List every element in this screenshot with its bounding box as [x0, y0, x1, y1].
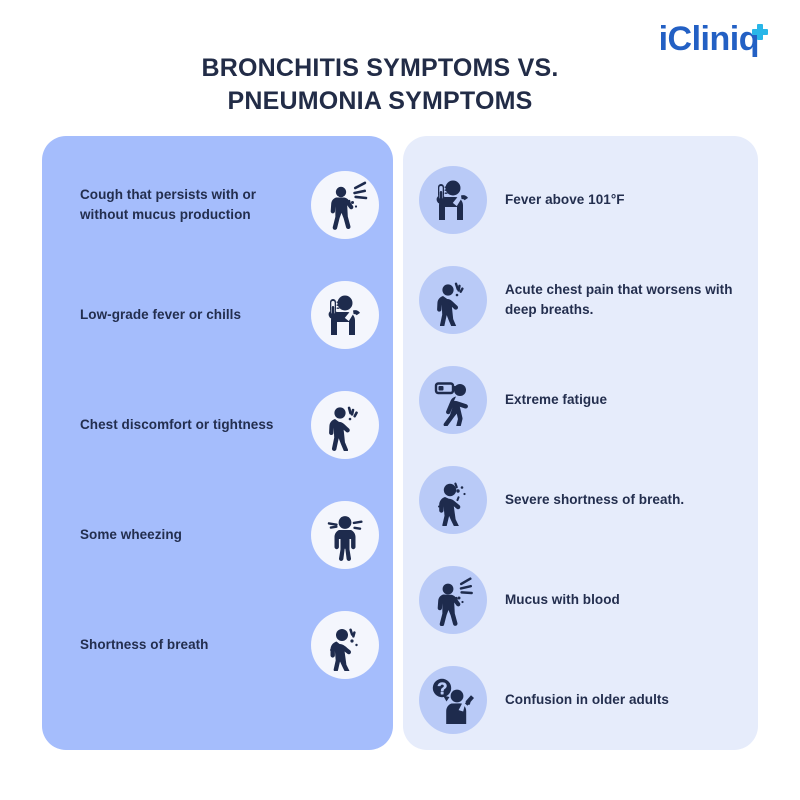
thermometer-fever-person-icon: [419, 166, 487, 234]
chest-pain-person-icon: [419, 266, 487, 334]
symptom-label: Acute chest pain that worsens with deep …: [487, 280, 744, 319]
list-item: Fever above 101°F: [403, 150, 758, 250]
page-title-line-2: PNEUMONIA SYMPTOMS: [0, 85, 760, 118]
list-item: Severe shortness of breath.: [403, 450, 758, 550]
symptom-label: Low-grade fever or chills: [80, 305, 311, 325]
list-item: Some wheezing: [42, 480, 393, 590]
breathless-person-icon: [311, 611, 379, 679]
symptom-label: Severe shortness of breath.: [487, 490, 744, 510]
list-item: Cough that persists with or without mucu…: [42, 150, 393, 260]
page-title-line-1: BRONCHITIS SYMPTOMS VS.: [0, 52, 760, 85]
list-item: Extreme fatigue: [403, 350, 758, 450]
pneumonia-symptoms-panel: Fever above 101°F Acute chest pain that …: [403, 136, 758, 750]
symptom-label: Cough that persists with or without mucu…: [80, 185, 311, 224]
severe-breathless-person-icon: [419, 466, 487, 534]
list-item: Shortness of breath: [42, 590, 393, 700]
wheezing-person-icon: [311, 501, 379, 569]
bronchitis-symptoms-panel: Cough that persists with or without mucu…: [42, 136, 393, 750]
symptom-label: Extreme fatigue: [487, 390, 744, 410]
question-mark-confusion-person-icon: [419, 666, 487, 734]
thermometer-fever-person-icon: [311, 281, 379, 349]
symptom-label: Some wheezing: [80, 525, 311, 545]
logo-wordmark: iCliniq: [659, 22, 759, 56]
low-battery-fatigue-person-icon: [419, 366, 487, 434]
coughing-blood-person-icon: [419, 566, 487, 634]
chest-pain-person-icon: [311, 391, 379, 459]
iclinic-logo: iCliniq: [659, 22, 768, 56]
symptom-label: Fever above 101°F: [487, 190, 744, 210]
symptom-label: Confusion in older adults: [487, 690, 744, 710]
list-item: Low-grade fever or chills: [42, 260, 393, 370]
plus-icon: [752, 24, 768, 40]
list-item: Mucus with blood: [403, 550, 758, 650]
coughing-person-icon: [311, 171, 379, 239]
list-item: Acute chest pain that worsens with deep …: [403, 250, 758, 350]
list-item: Chest discomfort or tightness: [42, 370, 393, 480]
list-item: Confusion in older adults: [403, 650, 758, 750]
symptom-label: Chest discomfort or tightness: [80, 415, 311, 435]
page-title: BRONCHITIS SYMPTOMS VS. PNEUMONIA SYMPTO…: [0, 52, 760, 118]
symptom-label: Shortness of breath: [80, 635, 311, 655]
symptom-label: Mucus with blood: [487, 590, 744, 610]
